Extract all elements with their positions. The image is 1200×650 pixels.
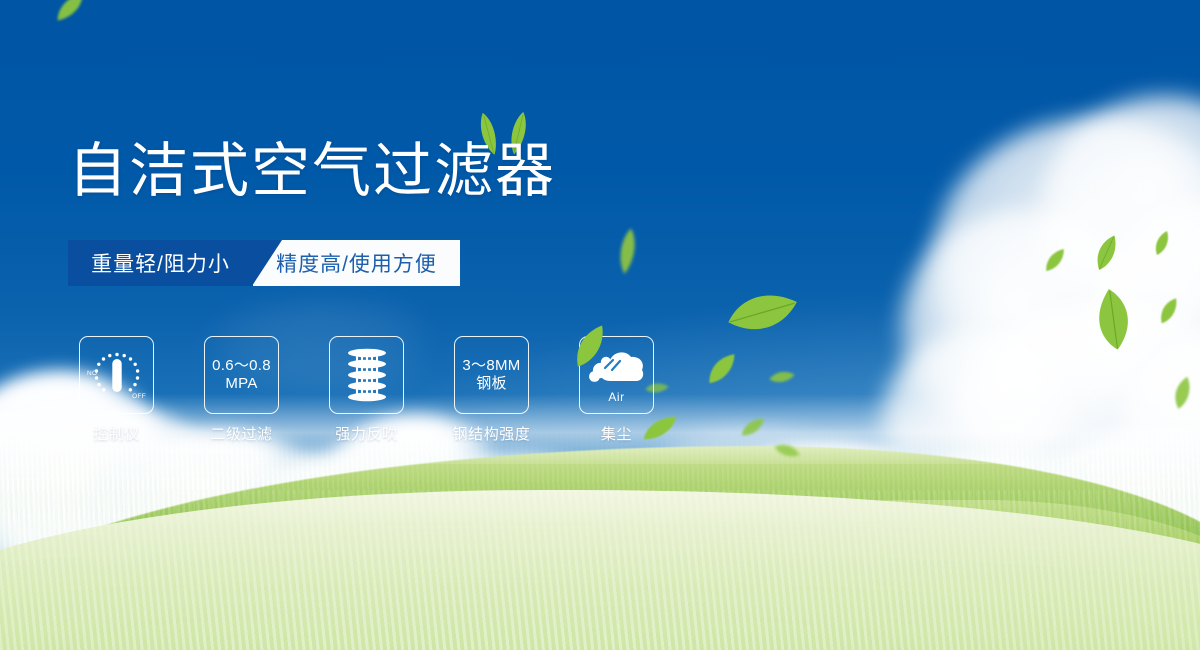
feature-label: 二级过滤 [210,423,272,444]
feature-icon-box [329,336,404,414]
feature-icon-box: 3～8MM 钢板 [454,336,529,414]
feature-item-control-dial[interactable]: NO OFF 控制仪 [78,336,155,444]
dial-off-label: OFF [132,393,146,400]
feature-label: 强力反吹 [335,423,397,444]
subtitle-bar: 重量轻/阻力小 精度高/使用方便 [68,240,460,286]
pressure-text-icon: 0.6～0.8 MPA [212,357,271,394]
subtitle-tag-secondary: 精度高/使用方便 [253,240,460,286]
steel-plate-text-icon: 3～8MM 钢板 [462,357,520,394]
pressure-unit: MPA [212,375,271,393]
pressure-value: 0.6～0.8 [212,357,271,375]
steel-thickness: 3～8MM [462,357,520,375]
feature-label: 钢结构强度 [453,423,531,444]
dial-on-label: NO [87,370,97,377]
feature-icon-box: Air [579,336,654,414]
steel-material: 钢板 [462,375,520,393]
feature-label: 集尘 [601,423,632,444]
feature-label: 控制仪 [93,423,140,444]
feature-item-reverse-blow[interactable]: 强力反吹 [328,336,405,444]
page-title: 自洁式空气过滤器 [68,142,556,201]
promo-banner: 自洁式空气过滤器 重量轻/阻力小 精度高/使用方便 [0,0,1200,650]
feature-icon-box: NO OFF [79,336,154,414]
feature-list: NO OFF 控制仪 0.6～0.8 MPA 二级过滤 [78,336,655,444]
feature-icon-box: 0.6～0.8 MPA [204,336,279,414]
banner-content: 自洁式空气过滤器 重量轻/阻力小 精度高/使用方便 [0,0,1200,650]
filter-cartridge-icon [343,347,391,403]
feature-item-pressure[interactable]: 0.6～0.8 MPA 二级过滤 [203,336,280,444]
air-label: Air [580,390,653,404]
feature-item-steel-plate[interactable]: 3～8MM 钢板 钢结构强度 [453,336,530,444]
subtitle-tag-primary: 重量轻/阻力小 [68,240,253,286]
